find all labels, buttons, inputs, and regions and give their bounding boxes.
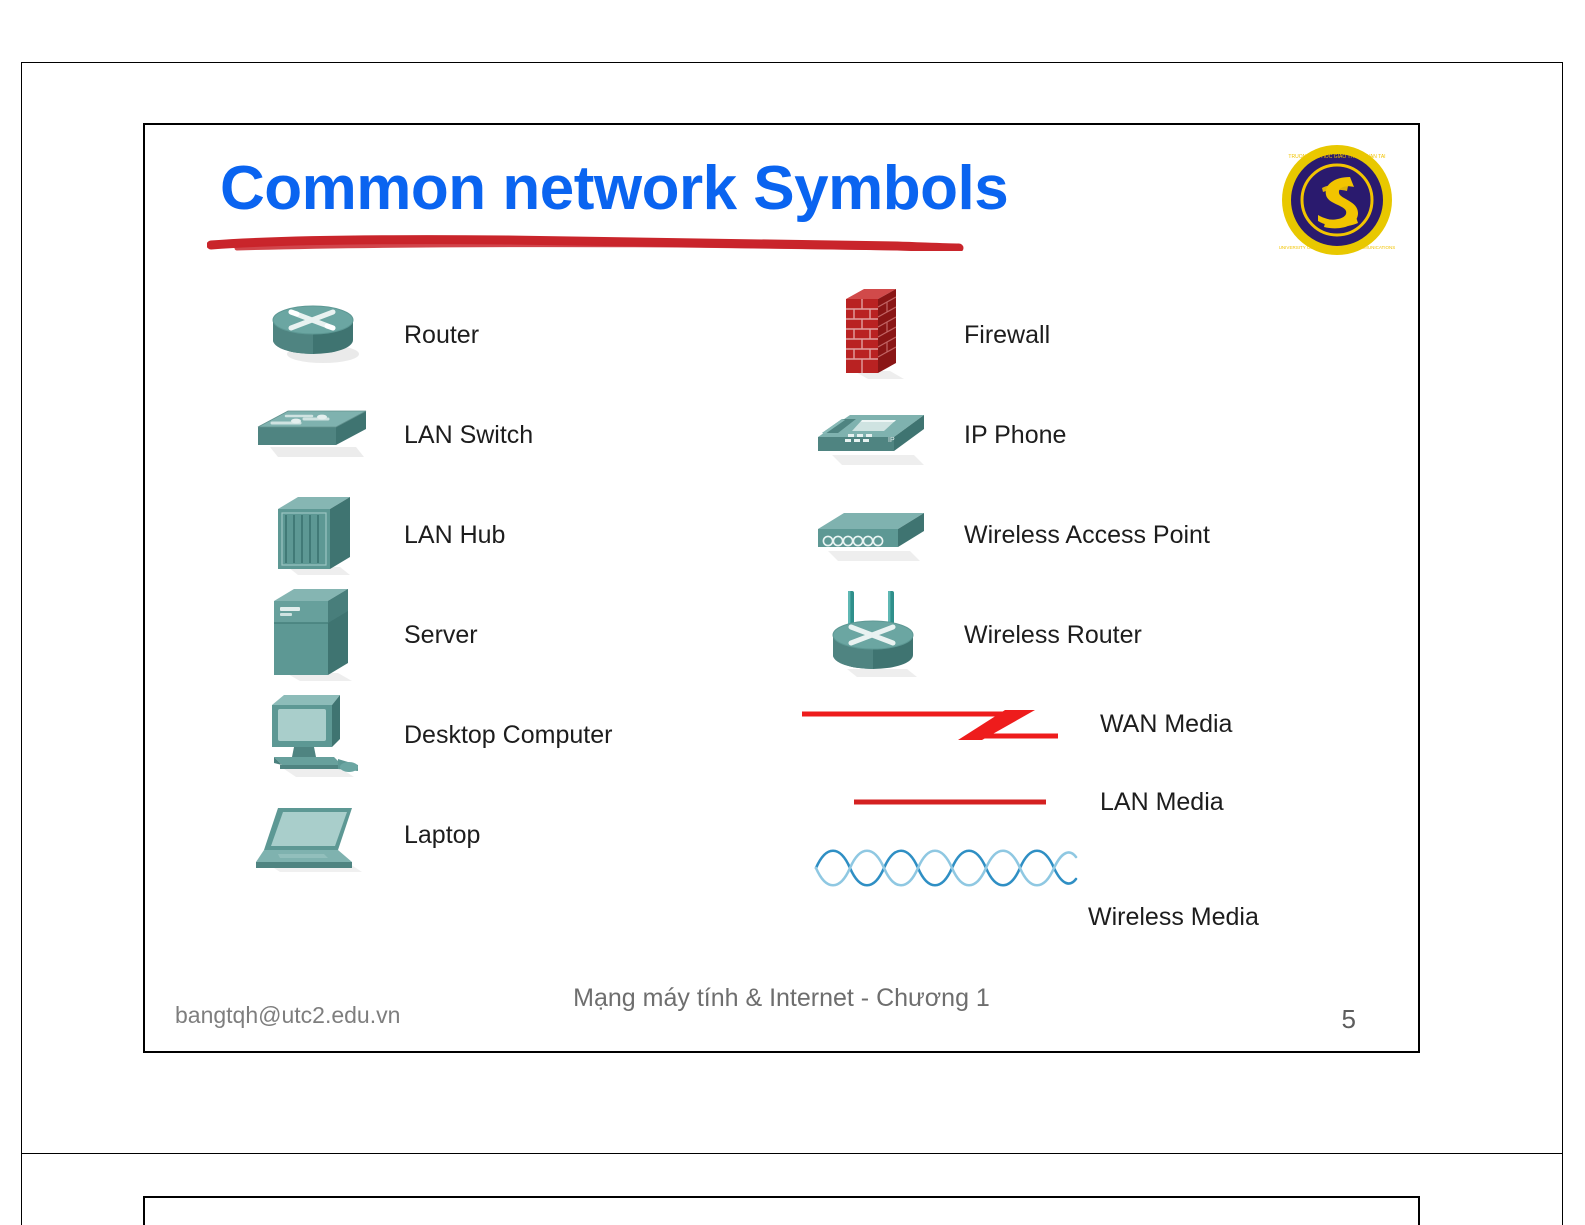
media-label: LAN Media [1090,788,1224,817]
page-title: Common network Symbols [220,153,1008,224]
symbol-label: Wireless Access Point [950,521,1210,550]
symbol-row-desktop-computer: Desktop Computer [240,685,760,785]
symbol-row-ip-phone: IP IP Phone [800,385,1400,485]
university-crest-logo: TRUONG DAI HOC GIAO THONG VAN TAI UNIVER… [1278,141,1396,259]
symbol-label: Desktop Computer [390,721,612,750]
symbol-row-lan-switch: LAN Switch [240,385,760,485]
laptop-icon [240,787,390,883]
desktop-computer-icon [240,687,390,783]
lan-switch-icon [240,387,390,483]
title-underline-stroke [207,235,967,249]
symbol-row-wireless-router: Wireless Router [800,585,1400,685]
wan-media-line-icon [800,689,1090,759]
server-icon [240,587,390,683]
media-row-wan-media: WAN Media [800,685,1400,763]
symbol-row-lan-hub: LAN Hub [240,485,760,585]
next-slide-card [143,1196,1420,1225]
symbol-label: Wireless Router [950,621,1142,650]
ip-phone-icon: IP [800,387,950,483]
svg-text:IP: IP [888,437,895,444]
svg-text:UNIVERSITY OF TRANSPORT AND CO: UNIVERSITY OF TRANSPORT AND COMMUNICATIO… [1279,245,1396,250]
symbol-row-firewall: Firewall [800,285,1400,385]
symbol-label: IP Phone [950,421,1066,450]
symbol-label: Router [390,321,479,350]
wireless-router-icon [800,587,950,683]
left-symbol-column: Router LAN Switch [240,285,760,885]
right-symbol-column: Firewall [800,285,1400,971]
symbol-label: LAN Hub [390,521,505,550]
symbol-row-laptop: Laptop [240,785,760,885]
symbol-row-wireless-access-point: Wireless Access Point [800,485,1400,585]
lan-hub-icon [240,487,390,583]
router-icon [240,287,390,383]
wireless-media-wave-icon [812,841,1082,900]
lan-media-line-icon [800,767,1090,837]
symbol-label: LAN Switch [390,421,533,450]
firewall-icon [800,287,950,383]
media-label: WAN Media [1090,710,1232,739]
symbol-row-server: Server [240,585,760,685]
symbol-label: Firewall [950,321,1050,350]
footer-page-number: 5 [1342,1004,1356,1035]
symbol-label: Laptop [390,821,480,850]
svg-text:TRUONG DAI HOC GIAO THONG VAN: TRUONG DAI HOC GIAO THONG VAN TAI [1288,154,1385,160]
media-row-wireless-media: Wireless Media [800,841,1400,971]
media-label: Wireless Media [1088,903,1259,932]
wireless-access-point-icon [800,487,950,583]
footer-course-title: Mạng máy tính & Internet - Chương 1 [145,984,1418,1013]
symbol-label: Server [390,621,478,650]
slide-card: Common network Symbols TRUONG DAI HOC GI… [143,123,1420,1053]
symbol-row-router: Router [240,285,760,385]
media-row-lan-media: LAN Media [800,763,1400,841]
